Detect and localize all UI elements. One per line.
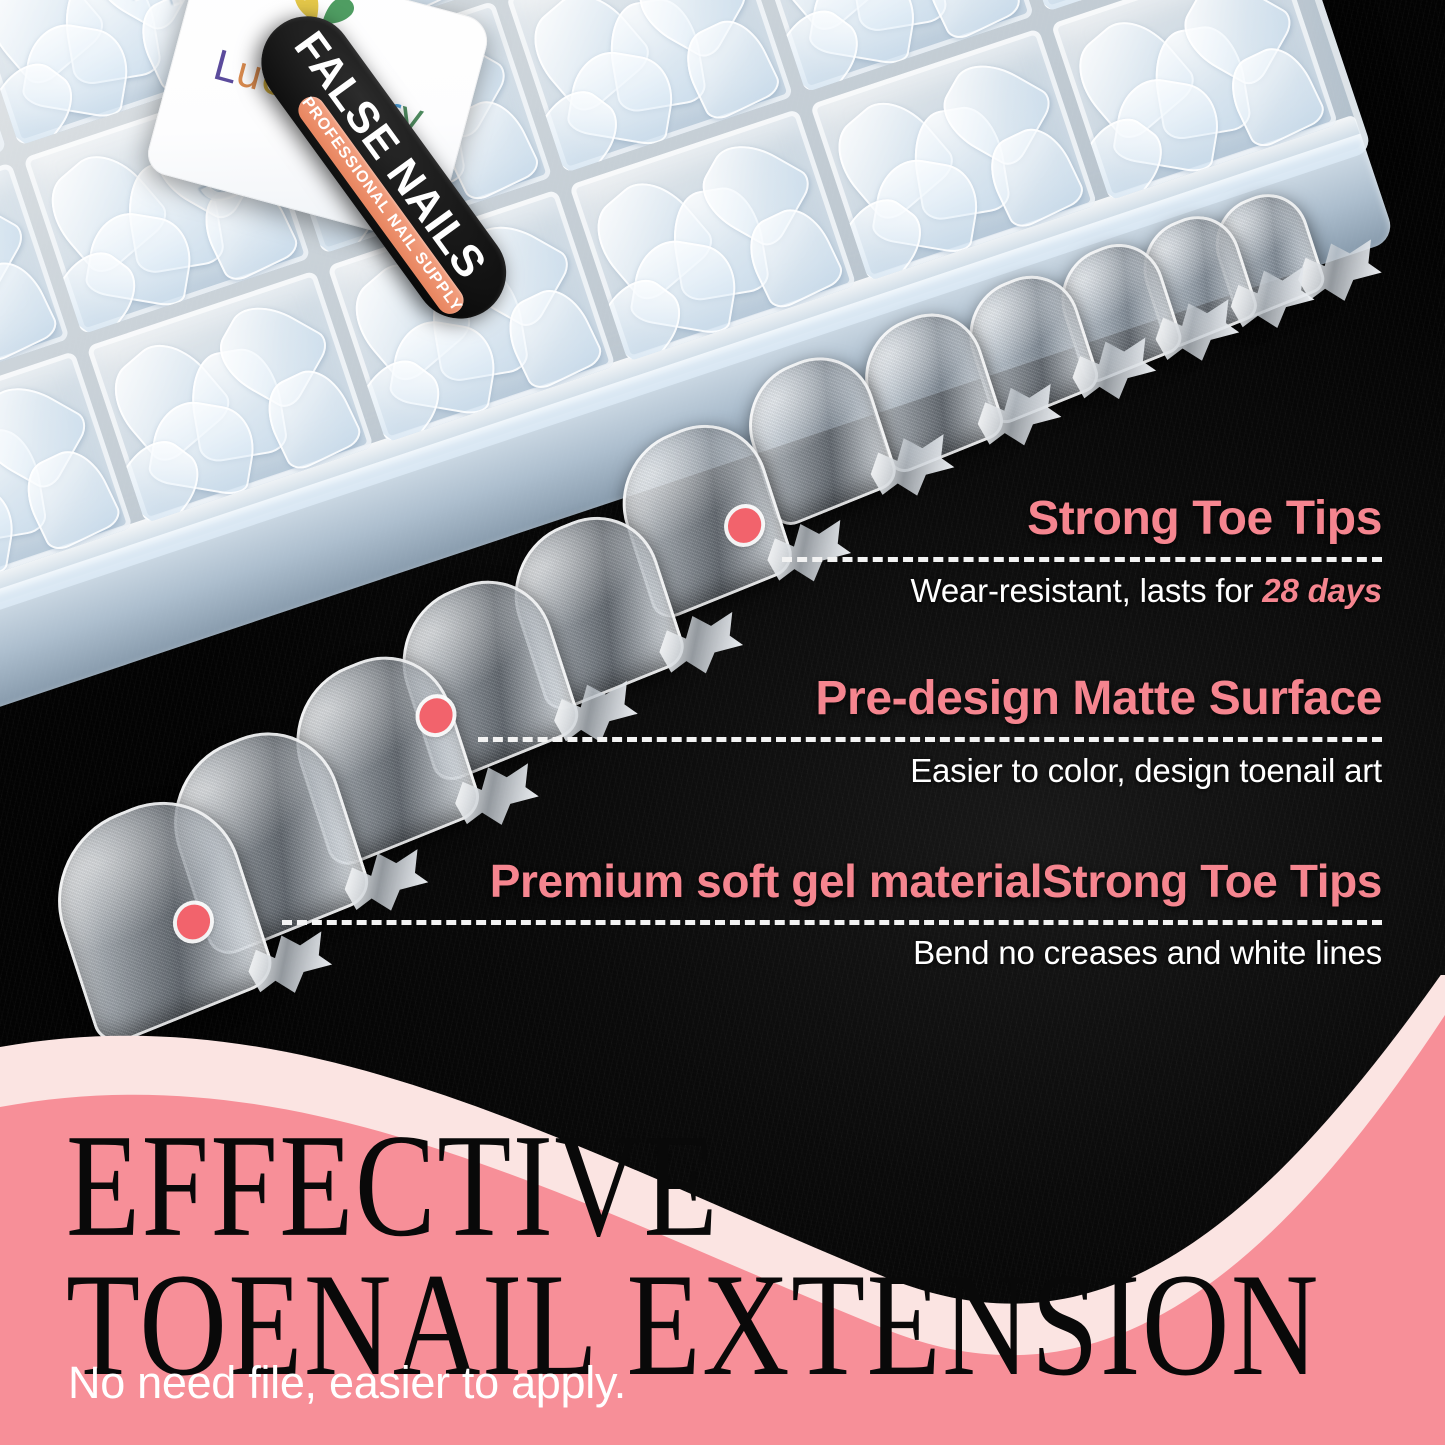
feature-sub-matte-surface: Easier to color, design toenail art [600,752,1382,790]
feature-block-strong-toe-tips: Strong Toe Tips [680,494,1382,544]
feature-block-matte-surface: Pre-design Matte Surface [600,674,1382,724]
feature-subtitle: Wear-resistant, lasts for 28 days [680,572,1382,610]
connector-dashed-line [782,557,1382,562]
feature-title: Pre-design Matte Surface [600,674,1382,724]
feature-dot-marker [172,899,214,944]
feature-subtitle: Bend no creases and white lines [300,934,1382,972]
product-marketing-image: 4 8 5 [0,0,1445,1445]
feature-block-soft-gel: Premium soft gel materialStrong Toe Tips [300,858,1382,906]
feature-subtitle-prefix: Wear-resistant, lasts for [911,572,1263,609]
feature-sub-strong-toe-tips: Wear-resistant, lasts for 28 days [680,572,1382,610]
page-headline: EFFECTIVE TOENAIL EXTENSION [66,1118,1356,1395]
connector-dashed-line [282,920,1382,925]
feature-subtitle-highlight: 28 days [1262,572,1382,609]
feature-title: Strong Toe Tips [680,494,1382,544]
page-tagline: No need file, easier to apply. [68,1357,626,1409]
feature-sub-soft-gel: Bend no creases and white lines [300,934,1382,972]
connector-dashed-line [478,737,1382,742]
feature-title: Premium soft gel materialStrong Toe Tips [300,858,1382,906]
feature-subtitle: Easier to color, design toenail art [600,752,1382,790]
